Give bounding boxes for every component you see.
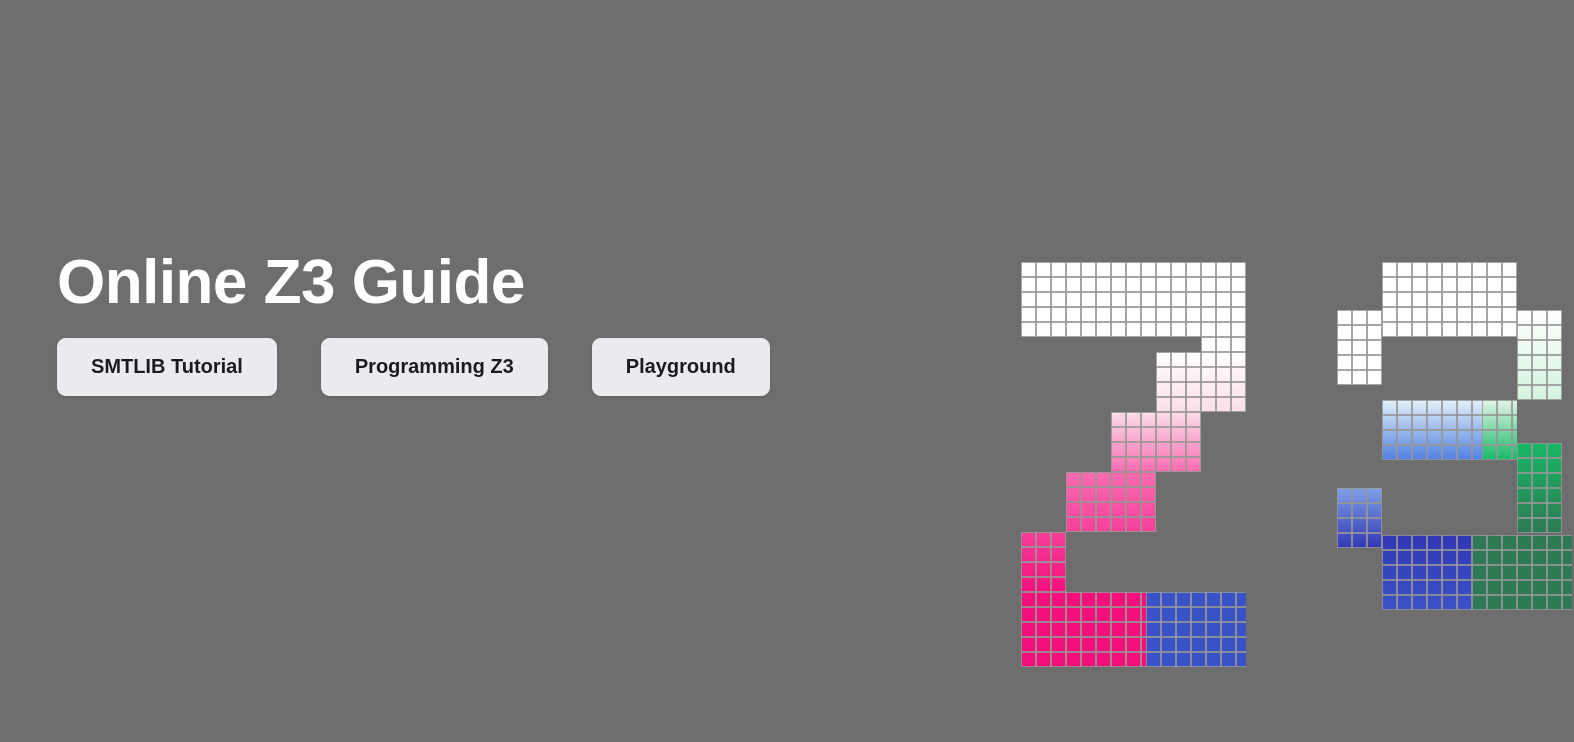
playground-button[interactable]: Playground: [592, 338, 770, 396]
logo-glyph-z-block-1: [1201, 337, 1246, 352]
logo-glyph-z-block-0: [1021, 262, 1246, 337]
logo-glyph-3-block-3: [1382, 400, 1482, 460]
hero-section: Online Z3 Guide SMTLIB Tutorial Programm…: [57, 252, 957, 396]
logo-glyph-3-block-8: [1472, 535, 1572, 610]
programming-z3-button[interactable]: Programming Z3: [321, 338, 548, 396]
logo-glyph-z-block-2: [1156, 352, 1246, 412]
logo-glyph-3-block-1: [1382, 262, 1517, 337]
logo-glyph-z-block-3: [1111, 412, 1201, 472]
hero-button-row: SMTLIB Tutorial Programming Z3 Playgroun…: [57, 338, 957, 396]
logo-glyph-3-block-2: [1517, 310, 1562, 400]
logo-glyph-z-block-7: [1146, 592, 1246, 667]
logo-glyph-3-block-0: [1337, 310, 1382, 385]
z3-pixel-logo: [1021, 262, 1521, 582]
logo-glyph-3-block-7: [1382, 535, 1472, 610]
smtlib-tutorial-button[interactable]: SMTLIB Tutorial: [57, 338, 277, 396]
page-title: Online Z3 Guide: [57, 252, 957, 314]
logo-glyph-3-block-6: [1337, 488, 1382, 548]
logo-glyph-3-block-4: [1482, 400, 1517, 460]
logo-glyph-z-block-5: [1021, 532, 1066, 592]
logo-glyph-z-block-6: [1021, 592, 1146, 667]
logo-glyph-z-block-4: [1066, 472, 1156, 532]
logo-glyph-3-block-5: [1517, 443, 1562, 533]
